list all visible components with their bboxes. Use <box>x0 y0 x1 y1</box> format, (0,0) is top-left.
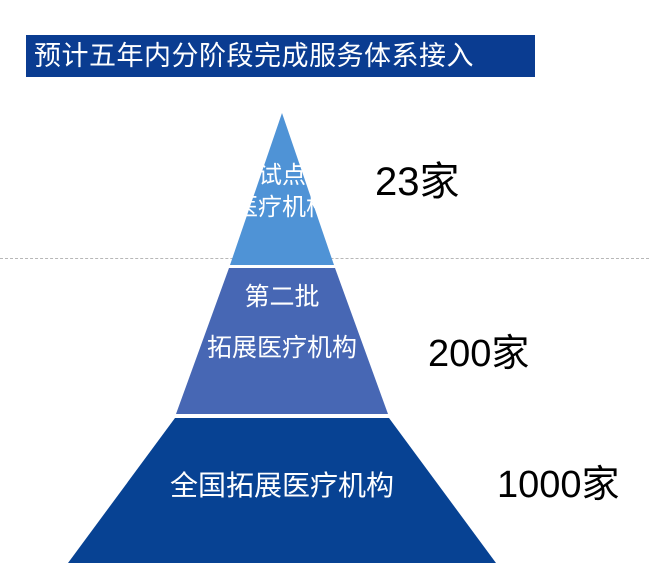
count-label-tier-3: 1000家 <box>497 466 620 504</box>
slide-canvas: 预计五年内分阶段完成服务体系接入 试点 医疗机构 第二批 拓展医疗机构 全国拓展… <box>0 0 649 583</box>
pyramid-tier-3-label: 全国拓展医疗机构 <box>112 470 452 501</box>
tier-2-line-1: 第二批 <box>244 283 319 311</box>
tier-2-line-2: 拓展医疗机构 <box>152 334 412 362</box>
tier-3-line-1: 全国拓展医疗机构 <box>170 470 394 501</box>
count-label-tier-1: 23家 <box>375 162 460 202</box>
tier-1-line-2: 医疗机构 <box>182 195 382 222</box>
pyramid-tier-1-label: 试点 医疗机构 <box>182 163 382 222</box>
pyramid-tier-2-label: 第二批 拓展医疗机构 <box>152 283 412 362</box>
tier-1-line-1: 试点 <box>258 162 306 189</box>
count-label-tier-2: 200家 <box>428 335 529 373</box>
